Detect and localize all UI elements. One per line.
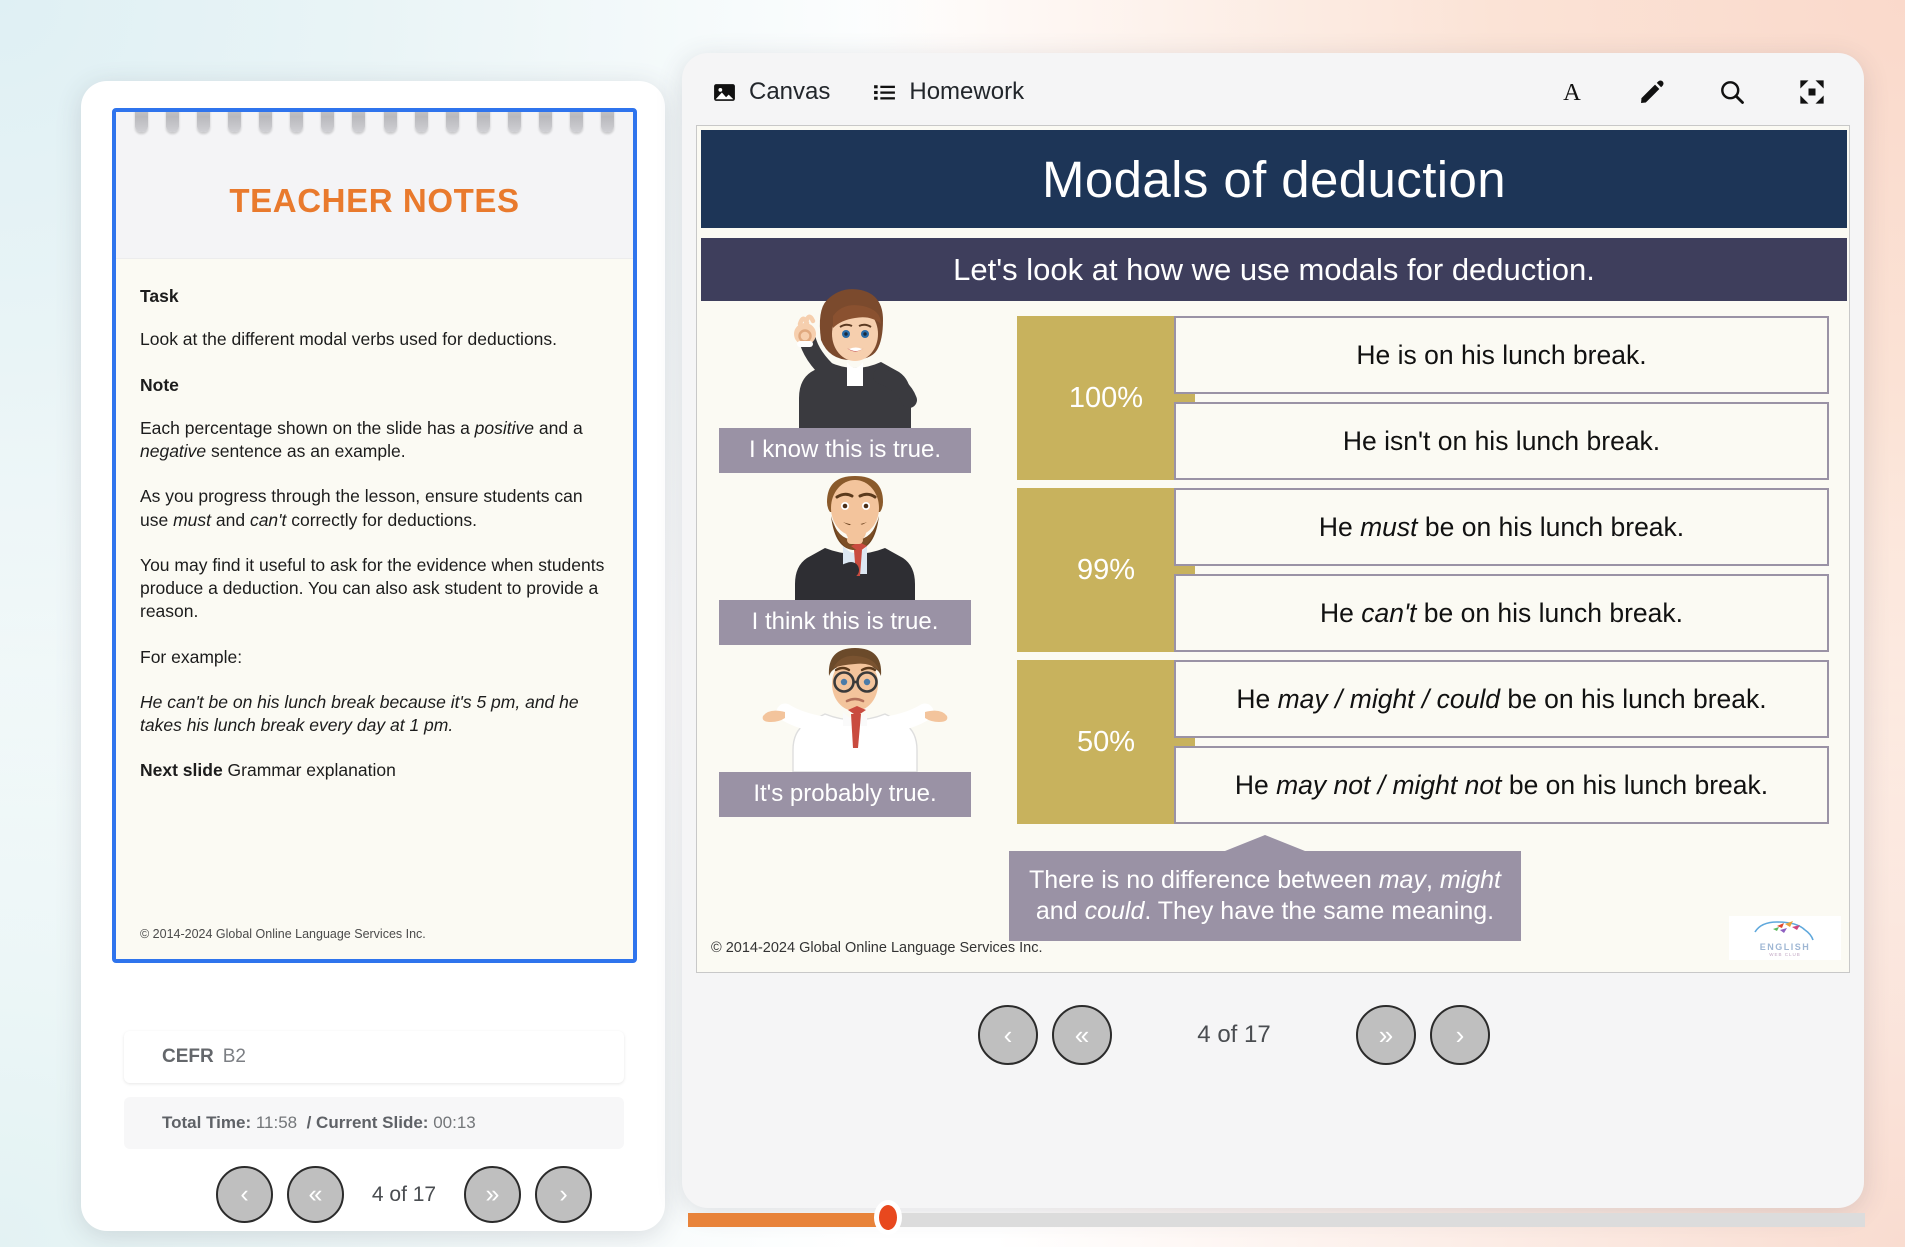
progress-track[interactable] bbox=[688, 1213, 1865, 1227]
s3b-em: may not / might not bbox=[1276, 770, 1501, 800]
spiral-ring-icon bbox=[259, 108, 272, 132]
s2b-em: can't bbox=[1361, 598, 1416, 628]
pencil-icon[interactable] bbox=[1638, 78, 1666, 106]
s2a-post: be on his lunch break. bbox=[1418, 512, 1685, 542]
character-column-2: I think this is true. bbox=[719, 488, 991, 600]
cefr-row: CEFR B2 bbox=[124, 1031, 624, 1083]
s3a-post: be on his lunch break. bbox=[1500, 684, 1767, 714]
slide-canvas[interactable]: Modals of deduction Let's look at how we… bbox=[696, 125, 1850, 973]
sentence-box-1a: He is on his lunch break. bbox=[1174, 316, 1829, 394]
percent-value-3: 50% bbox=[1077, 726, 1135, 759]
note-paragraph-1: Each percentage shown on the slide has a… bbox=[140, 417, 607, 464]
note-p2-c: correctly for deductions. bbox=[286, 510, 477, 530]
note-p2-em1: must bbox=[173, 510, 211, 530]
s3b-post: be on his lunch break. bbox=[1501, 770, 1768, 800]
spiral-ring-icon bbox=[135, 108, 148, 132]
left-pagination: ‹ « 4 of 17 » › bbox=[216, 1166, 592, 1223]
first-slide-button[interactable]: ‹ bbox=[216, 1166, 273, 1223]
note-p2-em2: can't bbox=[250, 510, 286, 530]
slide-next-button[interactable]: » bbox=[1356, 1005, 1416, 1065]
current-slide-value: 00:13 bbox=[433, 1113, 476, 1133]
character-column-1: I know this is true. bbox=[719, 316, 991, 428]
slide-pane: Canvas Homework bbox=[682, 53, 1864, 1208]
spiral-ring-icon bbox=[570, 108, 583, 132]
sentence-1a-text: He is on his lunch break. bbox=[1356, 340, 1646, 371]
spiral-ring-icon bbox=[539, 108, 552, 132]
spiral-ring-icon bbox=[601, 108, 614, 132]
notes-copyright: © 2014-2024 Global Online Language Servi… bbox=[140, 927, 426, 941]
teacher-notes-title: TEACHER NOTES bbox=[116, 182, 633, 220]
slide-prev-button[interactable]: « bbox=[1052, 1005, 1112, 1065]
percent-box-1: 100% bbox=[1017, 316, 1195, 480]
next-slide-text: Grammar explanation bbox=[223, 760, 396, 780]
note-paragraph-3: You may find it useful to ask for the ev… bbox=[140, 554, 607, 624]
spiral-ring-icon bbox=[352, 108, 365, 132]
s2a-em: must bbox=[1360, 512, 1417, 542]
note-paragraph-2: As you progress through the lesson, ensu… bbox=[140, 485, 607, 532]
sentence-3a-text: He may / might / could be on his lunch b… bbox=[1236, 684, 1766, 715]
for-example-label: For example: bbox=[140, 646, 607, 669]
total-time-label: Total Time: bbox=[162, 1113, 251, 1133]
cefr-value: B2 bbox=[223, 1046, 246, 1068]
timing-row: Total Time: 11:58 / Current Slide: 00:13 bbox=[124, 1097, 624, 1149]
percent-value-1: 100% bbox=[1069, 382, 1143, 415]
spiral-ring-icon bbox=[477, 108, 490, 132]
cefr-label: CEFR bbox=[162, 1046, 214, 1068]
logo-subtext: WEB CLUB bbox=[1769, 952, 1801, 957]
total-time-value: 11:58 bbox=[256, 1113, 297, 1133]
slide-first-button[interactable]: ‹ bbox=[978, 1005, 1038, 1065]
sentence-3b-text: He may not / might not be on his lunch b… bbox=[1235, 770, 1768, 801]
teacher-notes-pane: TEACHER NOTES Task Look at the different… bbox=[81, 81, 665, 1231]
spiral-ring-icon bbox=[384, 108, 397, 132]
s2a-pre: He bbox=[1319, 512, 1360, 542]
progress-thumb[interactable] bbox=[874, 1200, 902, 1235]
progress-fill bbox=[688, 1213, 888, 1227]
spiral-ring-icon bbox=[290, 108, 303, 132]
spiral-ring-icon bbox=[508, 108, 521, 132]
logo-birds-icon bbox=[1749, 920, 1821, 942]
note-p1-em1: positive bbox=[475, 418, 534, 438]
sentence-box-2b: He can't be on his lunch break. bbox=[1174, 574, 1829, 652]
slide-page-indicator: 4 of 17 bbox=[1182, 1021, 1286, 1049]
tab-homework-label: Homework bbox=[909, 78, 1024, 106]
sentence-2a-text: He must be on his lunch break. bbox=[1319, 512, 1684, 543]
logo-word: ENGLISH bbox=[1760, 942, 1811, 952]
note-p1-a: Each percentage shown on the slide has a bbox=[140, 418, 475, 438]
sentence-box-3a: He may / might / could be on his lunch b… bbox=[1174, 660, 1829, 738]
current-slide-label: Current Slide: bbox=[316, 1113, 428, 1133]
teacher-notes-body: Task Look at the different modal verbs u… bbox=[116, 259, 633, 815]
app-shell: TEACHER NOTES Task Look at the different… bbox=[40, 33, 1867, 1220]
callout-em1: may bbox=[1379, 866, 1426, 894]
s3b-pre: He bbox=[1235, 770, 1276, 800]
callout-em3: could bbox=[1085, 897, 1145, 925]
tab-homework[interactable]: Homework bbox=[872, 78, 1024, 106]
task-text: Look at the different modal verbs used f… bbox=[140, 328, 607, 351]
s3a-em: may / might / could bbox=[1278, 684, 1500, 714]
row-caption-3: It's probably true. bbox=[719, 772, 971, 817]
spiral-ring-icon bbox=[415, 108, 428, 132]
teacher-notes-card[interactable]: TEACHER NOTES Task Look at the different… bbox=[112, 108, 637, 963]
slide-subtitle: Let's look at how we use modals for dedu… bbox=[953, 252, 1595, 288]
callout-em2: might bbox=[1440, 866, 1501, 894]
slide-title-bar: Modals of deduction bbox=[701, 130, 1847, 228]
character-column-3: It's probably true. bbox=[719, 660, 991, 772]
spiral-ring-icon bbox=[446, 108, 459, 132]
man-shrugging-glasses-illustration bbox=[719, 660, 991, 772]
toolbar-actions: A bbox=[1558, 78, 1840, 106]
task-heading: Task bbox=[140, 285, 607, 308]
slide-content-grid: I know this is true. 100% He is on his l… bbox=[719, 316, 1829, 901]
note-p1-c: sentence as an example. bbox=[206, 441, 405, 461]
callout-box: There is no difference between may, migh… bbox=[1009, 851, 1521, 941]
spiral-ring-icon bbox=[228, 108, 241, 132]
text-format-icon[interactable]: A bbox=[1558, 78, 1586, 106]
percent-box-2: 99% bbox=[1017, 488, 1195, 652]
notes-header: TEACHER NOTES bbox=[116, 112, 633, 259]
slide-last-button[interactable]: › bbox=[1430, 1005, 1490, 1065]
s1b-pre: He isn't on his lunch break. bbox=[1343, 426, 1660, 456]
percent-box-3: 50% bbox=[1017, 660, 1195, 824]
next-slide-button[interactable]: » bbox=[464, 1166, 521, 1223]
note-p1-em2: negative bbox=[140, 441, 206, 461]
slide-copyright: © 2014-2024 Global Online Language Servi… bbox=[711, 940, 1043, 956]
s3a-pre: He bbox=[1236, 684, 1277, 714]
sentence-box-3b: He may not / might not be on his lunch b… bbox=[1174, 746, 1829, 824]
callout-b: , bbox=[1426, 866, 1440, 894]
next-slide-line: Next slide Grammar explanation bbox=[140, 759, 607, 782]
left-page-indicator: 4 of 17 bbox=[358, 1183, 450, 1207]
note-p1-b: and a bbox=[534, 418, 583, 438]
last-slide-button[interactable]: › bbox=[535, 1166, 592, 1223]
slide-pagination: ‹ « 4 of 17 » › bbox=[978, 1005, 1490, 1065]
spiral-ring-icon bbox=[166, 108, 179, 132]
note-heading: Note bbox=[140, 374, 607, 397]
sentence-1b-text: He isn't on his lunch break. bbox=[1343, 426, 1660, 457]
time-separator: / bbox=[307, 1113, 312, 1133]
tab-canvas[interactable]: Canvas bbox=[712, 78, 830, 106]
next-slide-label: Next slide bbox=[140, 760, 223, 780]
s2b-pre: He bbox=[1320, 598, 1361, 628]
s2b-post: be on his lunch break. bbox=[1416, 598, 1683, 628]
list-icon bbox=[872, 80, 897, 105]
search-icon[interactable] bbox=[1718, 78, 1746, 106]
man-thinking-beard-illustration bbox=[719, 488, 991, 600]
sentence-box-2a: He must be on his lunch break. bbox=[1174, 488, 1829, 566]
slide-toolbar: Canvas Homework bbox=[682, 53, 1864, 131]
image-icon bbox=[712, 80, 737, 105]
callout-d: . They have the same meaning. bbox=[1144, 897, 1494, 925]
note-p2-b: and bbox=[211, 510, 250, 530]
fullscreen-icon[interactable] bbox=[1798, 78, 1826, 106]
sentence-2b-text: He can't be on his lunch break. bbox=[1320, 598, 1683, 629]
prev-slide-button[interactable]: « bbox=[287, 1166, 344, 1223]
woman-ok-gesture-illustration bbox=[719, 316, 991, 428]
sentence-box-1b: He isn't on his lunch break. bbox=[1174, 402, 1829, 480]
callout-c: and bbox=[1036, 897, 1085, 925]
s1a-pre: He is on his lunch break. bbox=[1356, 340, 1646, 370]
svg-text:A: A bbox=[1563, 79, 1581, 106]
spiral-ring-icon bbox=[197, 108, 210, 132]
callout-a: There is no difference between bbox=[1029, 866, 1379, 894]
example-text: He can't be on his lunch break because i… bbox=[140, 691, 607, 738]
tab-canvas-label: Canvas bbox=[749, 78, 830, 106]
brand-logo: ENGLISH WEB CLUB bbox=[1729, 916, 1841, 960]
percent-value-2: 99% bbox=[1077, 554, 1135, 587]
lesson-progress[interactable] bbox=[688, 1206, 1865, 1232]
spiral-ring-icon bbox=[321, 108, 334, 132]
spiral-binding bbox=[116, 108, 633, 134]
slide-title: Modals of deduction bbox=[1042, 150, 1506, 209]
